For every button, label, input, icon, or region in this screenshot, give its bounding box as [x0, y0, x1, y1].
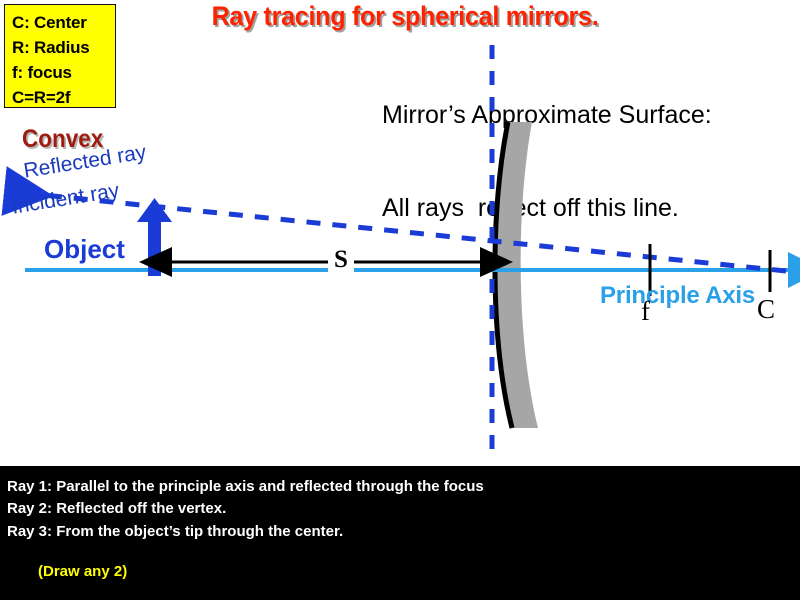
incident-reflected-ray — [14, 192, 786, 271]
object-distance-label: S — [328, 246, 354, 274]
object-label: Object — [44, 234, 125, 265]
center-point-label: C — [757, 294, 775, 325]
slide-canvas: C: Center R: Radius f: focus C=R=2f Ray … — [0, 0, 800, 600]
caption-ray-2: Ray 2: Reflected off the vertex. — [7, 500, 226, 517]
caption-note: (Draw any 2) — [38, 563, 127, 580]
object-arrow — [137, 198, 172, 276]
principle-axis-label: Principle Axis — [600, 282, 755, 310]
focus-point-label: f — [641, 296, 650, 327]
caption-ray-1: Ray 1: Parallel to the principle axis an… — [7, 478, 484, 495]
caption-ray-3: Ray 3: From the object’s tip through the… — [7, 523, 343, 540]
